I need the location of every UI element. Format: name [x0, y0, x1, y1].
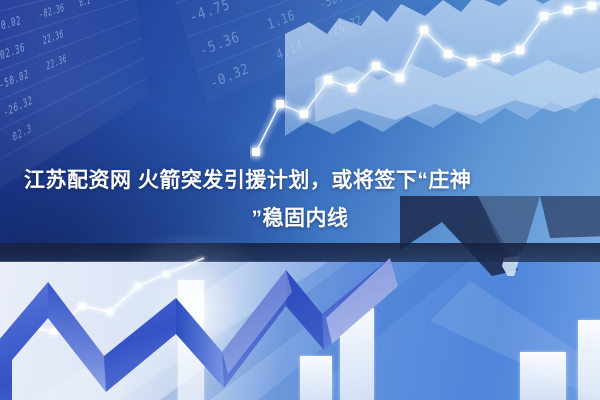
headline-text: 江苏配资网 火箭突发引援计划，或将签下“庄神 ”稳固内线 [24, 162, 576, 238]
glowing-line-chart [250, 0, 600, 164]
bar-column [520, 352, 566, 400]
bar-column [578, 320, 600, 400]
cover-image-canvas: -50.02 -02.36 21.63 -0?.36 -11.25 45.02 … [0, 0, 600, 400]
zigzag-arrow-ribbon-icon [0, 256, 416, 400]
headline-line-1: 江苏配资网 火箭突发引援计划，或将签下“庄神 [24, 162, 576, 200]
headline-line-2: ”稳固内线 [24, 200, 576, 238]
